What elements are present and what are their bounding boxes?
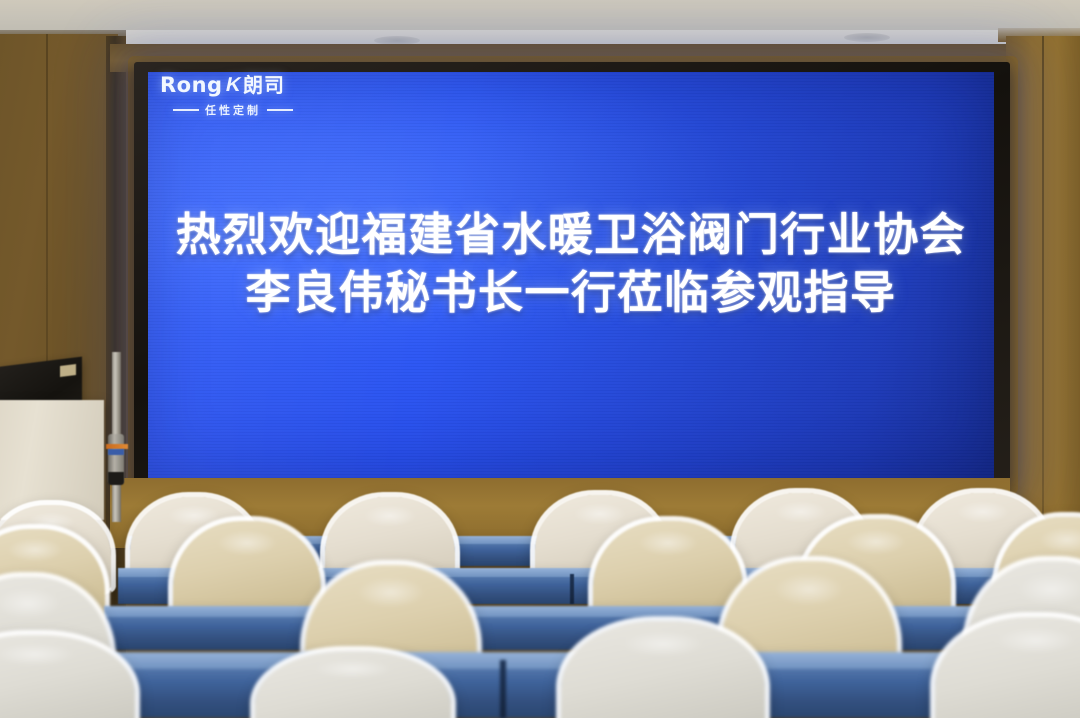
welcome-headline: 热烈欢迎福建省水暖卫浴阀门行业协会 李良伟秘书长一行莅临参观指导 [148, 206, 994, 322]
panel-label-tag [60, 364, 76, 377]
logo-rule-left-icon [173, 109, 199, 111]
conference-room-photo: Rong K 朗司 任性定制 热烈欢迎福建省水暖卫浴阀门行业协会 李良伟秘书长一… [0, 0, 1080, 718]
logo-mark-icon: K [223, 75, 242, 96]
logo-cjk-text: 朗司 [243, 75, 285, 96]
device-base-cap [108, 472, 124, 485]
headline-line-2: 李良伟秘书长一行莅临参观指导 [148, 264, 994, 322]
logo-tagline: 任性定制 [205, 102, 261, 118]
headline-line-1: 热烈欢迎福建省水暖卫浴阀门行业协会 [148, 206, 994, 264]
desk-seam [500, 660, 506, 718]
logo-tagline-row: 任性定制 [173, 102, 380, 118]
logo-rule-right-icon [267, 109, 293, 111]
logo-wordmark: Rong K 朗司 [160, 70, 380, 96]
desk-seam [570, 574, 574, 604]
logo-latin-text: Rong [160, 75, 223, 96]
ceiling-light-icon [844, 33, 890, 42]
device-blue-band-icon [108, 449, 124, 455]
brand-logo: Rong K 朗司 任性定制 [160, 70, 380, 124]
